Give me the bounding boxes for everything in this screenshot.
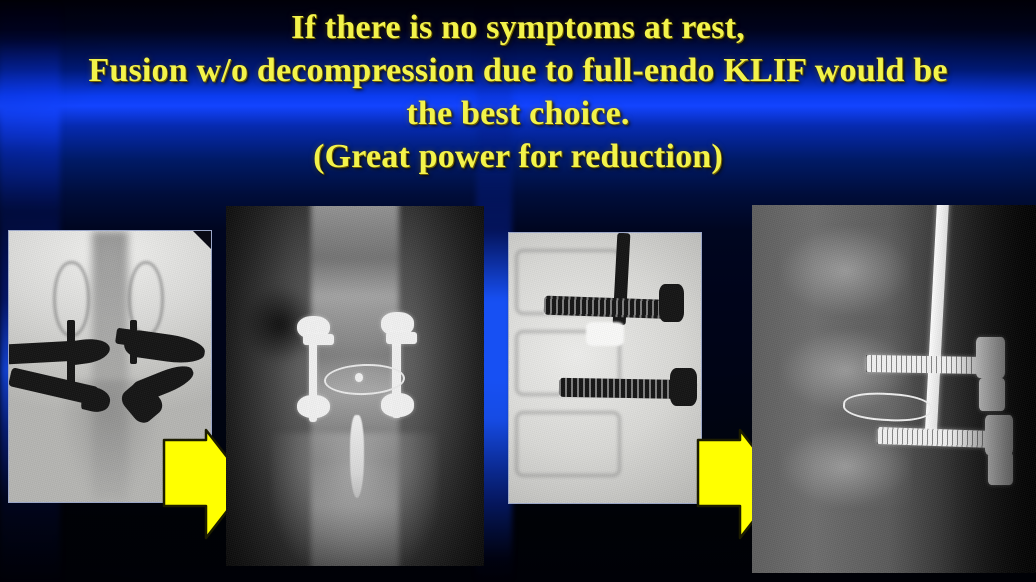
xray-postop-lateral: [752, 205, 1036, 573]
film-grain-2: [226, 206, 484, 566]
xray-postop-ap: [226, 206, 484, 566]
xray-film-3: [509, 233, 701, 503]
xray-film-4: [752, 205, 1036, 573]
xray-film-2: [226, 206, 484, 566]
slide-canvas: If there is no symptoms at rest, Fusion …: [0, 0, 1036, 582]
corner-cut-1: [191, 230, 212, 251]
film-grain-4: [752, 205, 1036, 573]
film-grain-3: [509, 233, 701, 503]
xray-preop-lateral: [508, 232, 702, 504]
